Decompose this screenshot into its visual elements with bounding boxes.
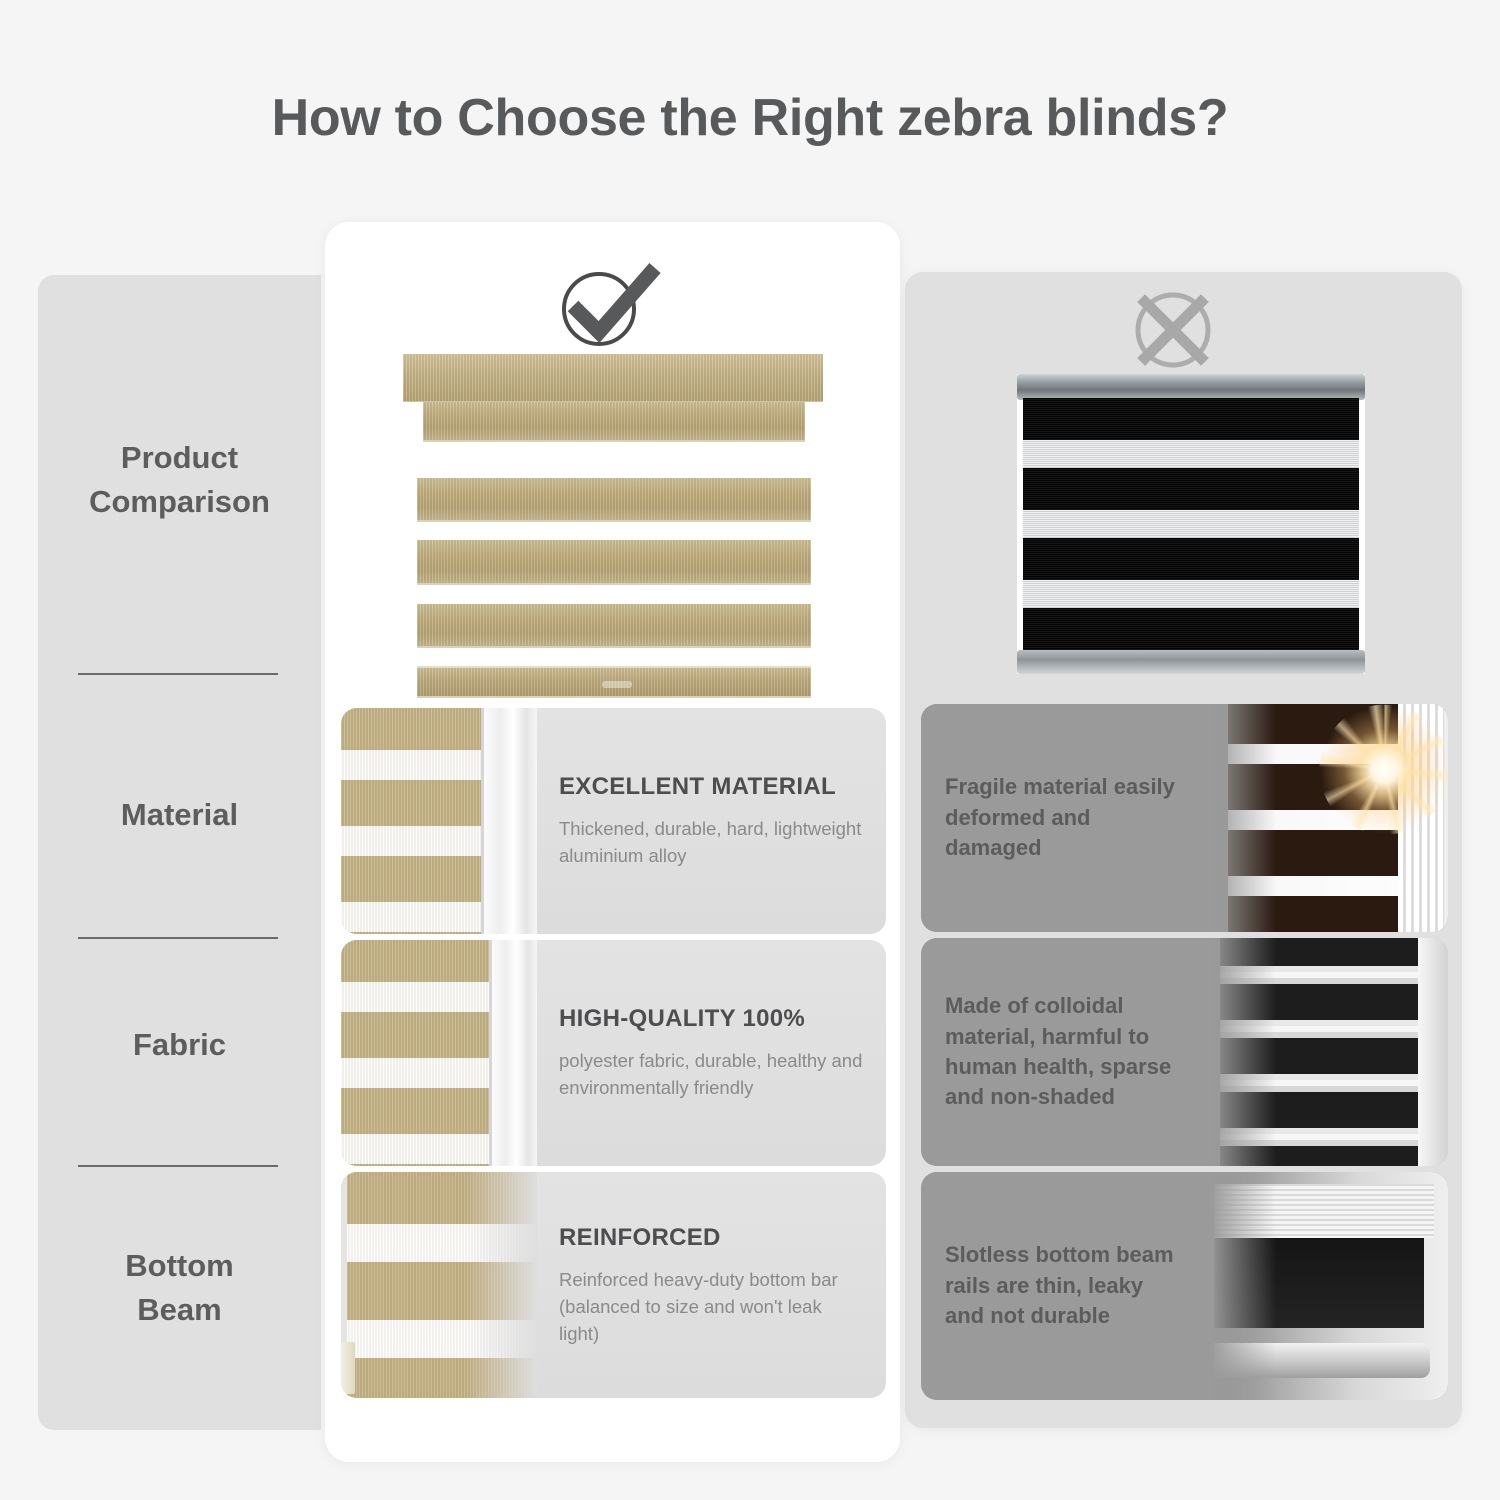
light-leak-sunburst-window-photo bbox=[1210, 704, 1448, 932]
blind-headrail bbox=[1017, 374, 1365, 400]
black-zebra-blind-hero bbox=[1017, 374, 1365, 674]
x-circle-icon bbox=[1113, 280, 1233, 380]
blind-slat bbox=[417, 540, 811, 585]
good-feature-body: Reinforced heavy-duty bottom bar (balanc… bbox=[559, 1266, 864, 1347]
row-divider-1 bbox=[78, 673, 278, 675]
good-feature-body: Thickened, durable, hard, lightweight al… bbox=[559, 815, 864, 869]
row-label-line2: Beam bbox=[137, 1292, 221, 1327]
blind-bottom-bar bbox=[417, 666, 811, 698]
tan-blind-slats bbox=[341, 708, 483, 934]
bad-feature-text-panel: Fragile material easily deformed and dam… bbox=[921, 704, 1210, 932]
good-feature-heading: HIGH-QUALITY 100% bbox=[559, 1005, 864, 1033]
blind-slat bbox=[417, 478, 811, 522]
blind-fabric-body bbox=[1023, 398, 1359, 652]
photo-left-fade bbox=[1210, 704, 1276, 932]
bad-feature-material: Fragile material easily deformed and dam… bbox=[921, 704, 1448, 932]
sparse-sheer-fabric-photo bbox=[1210, 938, 1448, 1166]
blind-headrail bbox=[403, 354, 823, 402]
tan-blind-fabric-photo bbox=[341, 940, 537, 1166]
tan-zebra-blind-hero bbox=[403, 354, 823, 699]
bottom-bar-end-cap bbox=[341, 1342, 355, 1394]
good-feature-body: polyester fabric, durable, healthy and e… bbox=[559, 1047, 864, 1101]
bad-feature-text-panel: Made of colloidal material, harmful to h… bbox=[921, 938, 1210, 1166]
bad-feature-body: Fragile material easily deformed and dam… bbox=[945, 772, 1186, 863]
page-title: How to Choose the Right zebra blinds? bbox=[0, 88, 1500, 148]
bottom-bar-handle bbox=[602, 681, 632, 688]
bad-product-column: Fragile material easily deformed and dam… bbox=[905, 272, 1462, 1428]
good-feature-bottom-beam: REINFORCED Reinforced heavy-duty bottom … bbox=[341, 1172, 886, 1398]
row-label-material: Material bbox=[38, 785, 321, 845]
good-feature-text-panel: HIGH-QUALITY 100% polyester fabric, dura… bbox=[537, 940, 886, 1166]
row-divider-2 bbox=[78, 937, 278, 939]
tan-blind-window-frame-photo bbox=[341, 708, 537, 934]
good-product-column: EXCELLENT MATERIAL Thickened, durable, h… bbox=[325, 222, 900, 1462]
row-label-line1: Fabric bbox=[133, 1027, 226, 1062]
good-feature-material: EXCELLENT MATERIAL Thickened, durable, h… bbox=[341, 708, 886, 934]
thin-slotless-bottom-rail-photo bbox=[1210, 1172, 1448, 1400]
row-label-line2: Comparison bbox=[89, 484, 270, 519]
row-label-line1: Product bbox=[121, 440, 238, 475]
blind-slat bbox=[423, 402, 805, 442]
row-label-line1: Material bbox=[121, 797, 238, 832]
row-label-rail: Product Comparison Material Fabric Botto… bbox=[38, 275, 321, 1430]
bad-feature-text-panel: Slotless bottom beam rails are thin, lea… bbox=[921, 1172, 1210, 1400]
bad-feature-fabric: Made of colloidal material, harmful to h… bbox=[921, 938, 1448, 1166]
photo-left-fade bbox=[1210, 1172, 1276, 1400]
good-feature-heading: EXCELLENT MATERIAL bbox=[559, 773, 864, 801]
tan-blind-slats bbox=[341, 940, 491, 1166]
row-divider-3 bbox=[78, 1165, 278, 1167]
bad-feature-body: Slotless bottom beam rails are thin, lea… bbox=[945, 1240, 1186, 1331]
sun-glare-icon bbox=[1319, 705, 1448, 835]
row-label-fabric: Fabric bbox=[38, 1015, 321, 1075]
blind-bottom-rail bbox=[1017, 650, 1365, 674]
good-feature-fabric: HIGH-QUALITY 100% polyester fabric, dura… bbox=[341, 940, 886, 1166]
window-frame bbox=[481, 708, 537, 934]
good-feature-heading: REINFORCED bbox=[559, 1224, 864, 1252]
row-label-product-comparison: Product Comparison bbox=[38, 415, 321, 545]
photo-left-fade bbox=[1210, 938, 1276, 1166]
tan-blind-bottom-bar-photo bbox=[341, 1172, 537, 1398]
good-feature-text-panel: REINFORCED Reinforced heavy-duty bottom … bbox=[537, 1172, 886, 1398]
check-circle-icon bbox=[547, 254, 667, 354]
good-feature-text-panel: EXCELLENT MATERIAL Thickened, durable, h… bbox=[537, 708, 886, 934]
row-label-bottom-beam: Bottom Beam bbox=[38, 1223, 321, 1353]
bad-feature-bottom-beam: Slotless bottom beam rails are thin, lea… bbox=[921, 1172, 1448, 1400]
photo-right-fade bbox=[467, 1172, 537, 1398]
blind-slat bbox=[417, 604, 811, 648]
window-frame bbox=[489, 940, 537, 1166]
bad-feature-body: Made of colloidal material, harmful to h… bbox=[945, 991, 1186, 1112]
row-label-line1: Bottom bbox=[125, 1248, 233, 1283]
window-frame bbox=[1418, 938, 1448, 1166]
